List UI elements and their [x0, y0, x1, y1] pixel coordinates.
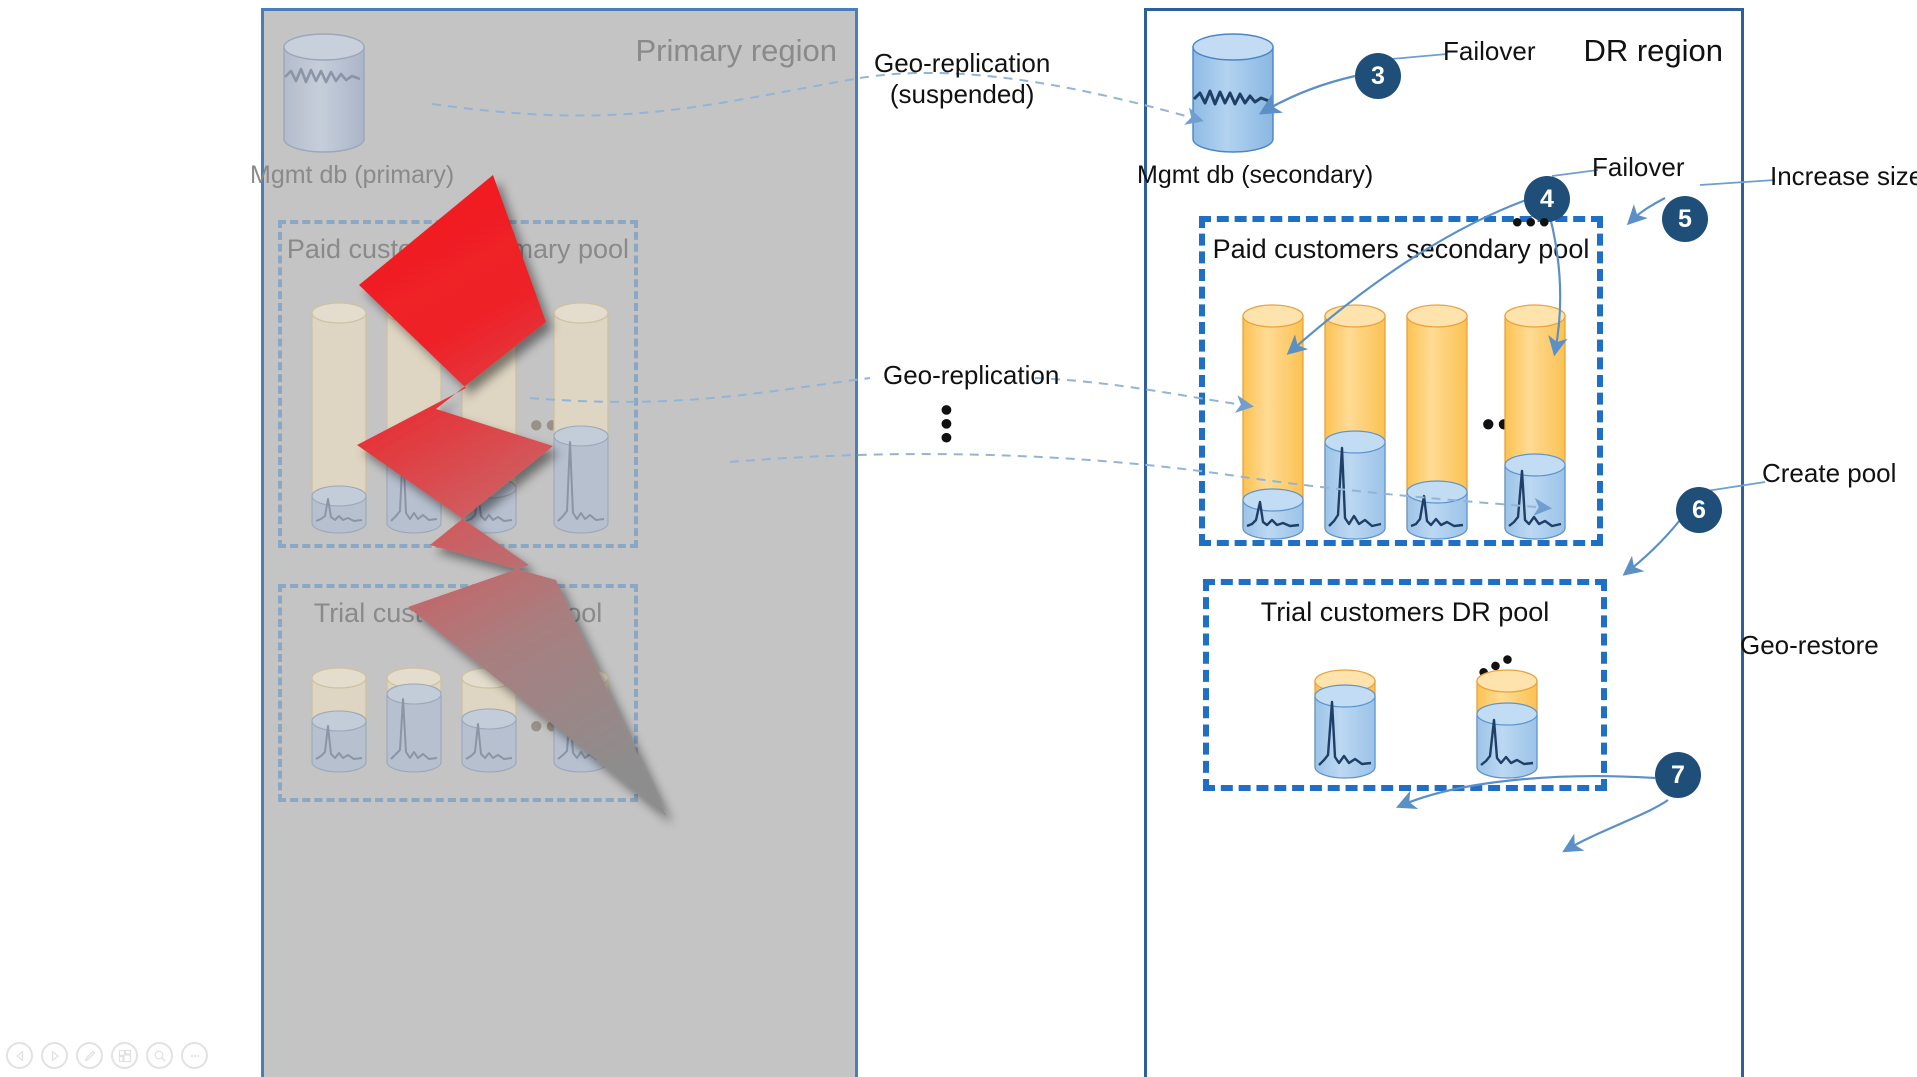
magnifier-icon: [153, 1049, 167, 1063]
step-badge-6[interactable]: 6: [1676, 487, 1722, 533]
database-cylinder: [1501, 302, 1569, 547]
trial-customers-dr-pool: Trial customers DR pool •••: [1203, 579, 1607, 791]
step-3-label: Failover: [1443, 36, 1535, 67]
database-cylinder: [550, 301, 612, 540]
step-badge-5[interactable]: 5: [1662, 196, 1708, 242]
database-cylinder: [308, 301, 370, 540]
triangle-right-icon: [49, 1050, 61, 1062]
database-cylinder: [458, 666, 520, 781]
mgmt-db-secondary-label: Mgmt db (secondary): [1137, 161, 1373, 190]
step-badge-7[interactable]: 7: [1655, 752, 1701, 798]
next-slide-button[interactable]: [41, 1042, 68, 1069]
paid-customers-primary-pool-label: Paid customers primary pool: [282, 234, 634, 265]
triangle-left-icon: [14, 1050, 26, 1062]
database-cylinder: [383, 301, 445, 540]
trial-customers-dr-pool-label: Trial customers DR pool: [1209, 597, 1601, 628]
geo-replication-suspended-line1: Geo-replication: [874, 48, 1050, 79]
database-cylinder: [383, 666, 445, 781]
database-cylinder: [1473, 667, 1541, 788]
step-6-label: Create pool: [1762, 458, 1896, 489]
zoom-button[interactable]: [146, 1042, 173, 1069]
pen-icon: [83, 1049, 97, 1063]
dr-region-title: DR region: [1583, 33, 1723, 69]
trial-customers-primary-pool: Trial customers DR pool: [278, 584, 638, 802]
step-5-label: Increase size: [1770, 161, 1917, 192]
geo-replication-label: Geo-replication: [883, 360, 1059, 391]
geo-replication-suspended-line2: (suspended): [874, 79, 1050, 110]
database-cylinder: [1239, 302, 1307, 547]
trial-customers-primary-pool-label: Trial customers DR pool: [282, 598, 634, 629]
slide-overview-button[interactable]: [111, 1042, 138, 1069]
database-cylinder: [458, 301, 520, 540]
database-cylinder: [550, 666, 612, 781]
mgmt-db-secondary-cylinder: [1183, 29, 1283, 164]
paid-customers-secondary-pool: Paid customers secondary pool: [1199, 216, 1603, 546]
database-cylinder: [1403, 302, 1471, 547]
step-7-label: Geo-restore: [1740, 630, 1879, 661]
mgmt-db-primary-label: Mgmt db (primary): [250, 161, 454, 190]
step-4-label: Failover: [1592, 152, 1684, 183]
primary-region-panel: Primary region Mgmt db (primary) Paid cu…: [261, 8, 858, 1077]
step-4-ellipsis: •••: [1512, 208, 1553, 238]
previous-slide-button[interactable]: [6, 1042, 33, 1069]
geo-replication-suspended-label: Geo-replication (suspended): [874, 48, 1050, 110]
mgmt-db-primary-cylinder: [274, 29, 374, 164]
ellipsis-icon: [188, 1049, 202, 1063]
presentation-controls[interactable]: [6, 1042, 208, 1069]
grid-icon: [118, 1049, 132, 1063]
primary-region-title: Primary region: [635, 33, 837, 69]
paid-customers-primary-pool: Paid customers primary pool: [278, 220, 638, 548]
slide-canvas: Primary region Mgmt db (primary) Paid cu…: [0, 0, 1917, 1077]
database-cylinder: [308, 666, 370, 781]
step-badge-3[interactable]: 3: [1355, 53, 1401, 99]
geo-replication-vertical-ellipsis: •••: [935, 404, 956, 446]
more-options-button[interactable]: [181, 1042, 208, 1069]
pen-annotate-button[interactable]: [76, 1042, 103, 1069]
database-cylinder: [1321, 302, 1389, 547]
database-cylinder: [1311, 667, 1379, 788]
